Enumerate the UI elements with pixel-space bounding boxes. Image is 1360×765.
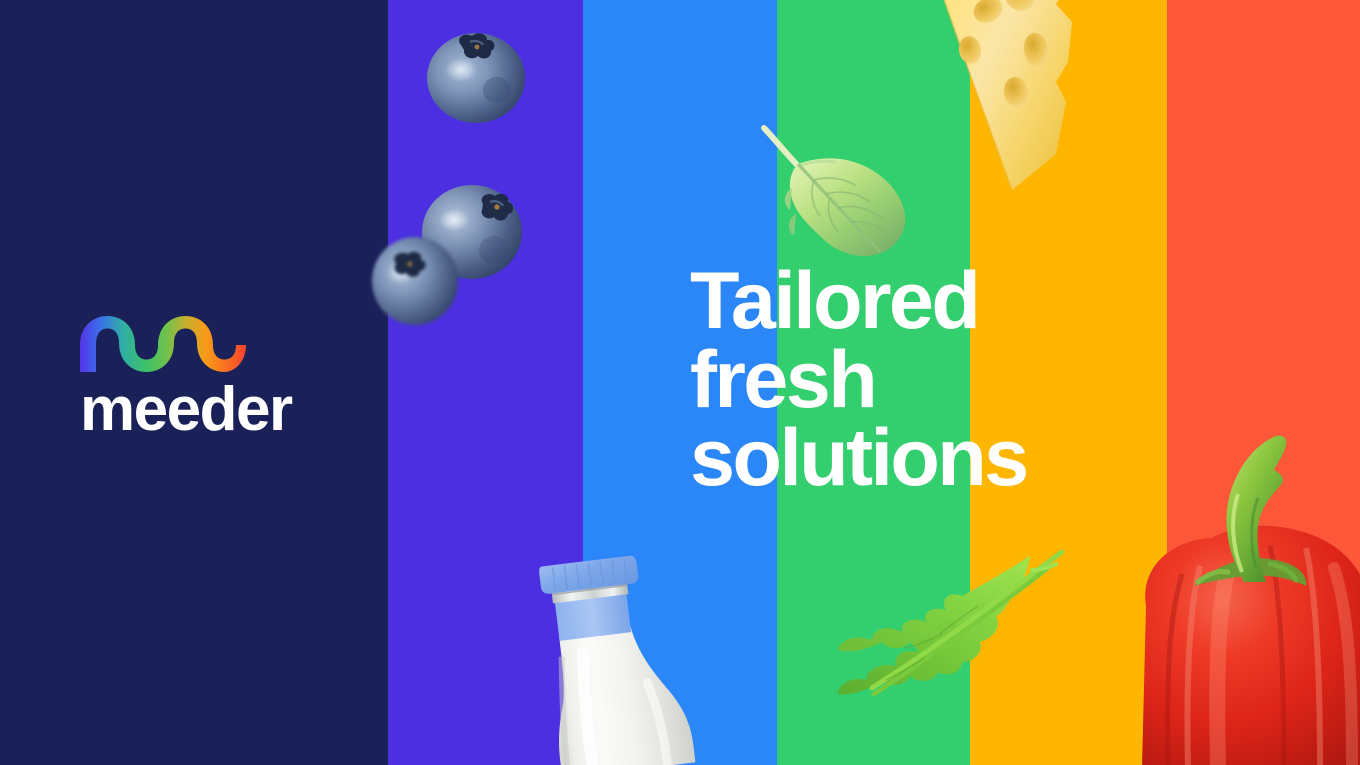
lettuce-leaf-icon (752, 118, 938, 266)
arugula-leaves-icon (812, 548, 1064, 696)
milk-bottle-icon (527, 554, 741, 765)
wave-gradient-mark-icon (80, 316, 246, 372)
hero-headline: Tailored fresh solutions (690, 262, 1110, 498)
blueberry-top-icon (425, 28, 527, 124)
blueberry-lower-icon (370, 233, 460, 327)
bell-pepper-icon (1120, 418, 1360, 765)
cheese-wedge-icon (916, 0, 1102, 194)
hero-banner: meeder Tailored fresh solutions (0, 0, 1360, 765)
brand-logo[interactable]: meeder (80, 316, 345, 441)
brand-wordmark: meeder (80, 378, 345, 441)
